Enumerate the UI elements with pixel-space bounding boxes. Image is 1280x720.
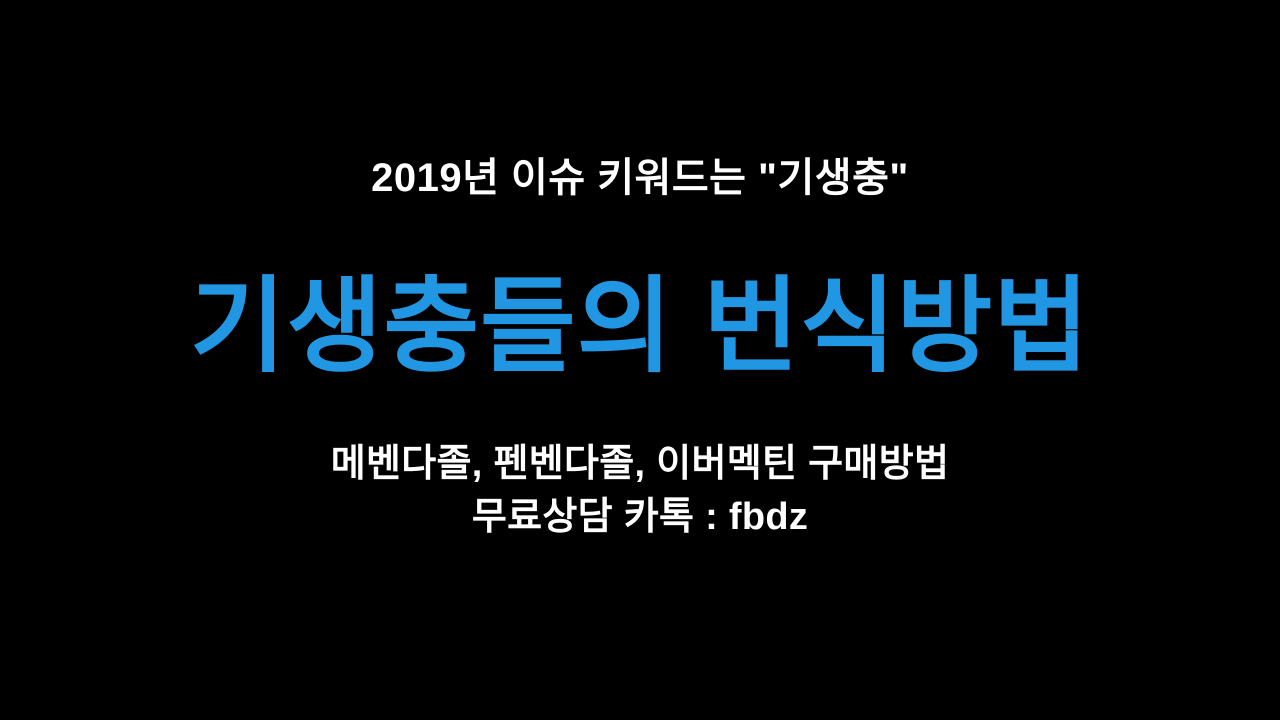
title-card-slide: 2019년 이슈 키워드는 "기생충" 기생충들의 번식방법 메벤다졸, 펜벤다… <box>0 0 1280 720</box>
kicker-text: 2019년 이슈 키워드는 "기생충" <box>0 158 1280 198</box>
headline-text: 기생충들의 번식방법 <box>0 275 1280 379</box>
subtitle-line-1: 메벤다졸, 펜벤다졸, 이버멕틴 구매방법 <box>0 445 1280 483</box>
subtitle-line-2: 무료상담 카톡 : fbdz <box>0 498 1280 536</box>
title-text-stack: 2019년 이슈 키워드는 "기생충" 기생충들의 번식방법 메벤다졸, 펜벤다… <box>0 0 1280 720</box>
